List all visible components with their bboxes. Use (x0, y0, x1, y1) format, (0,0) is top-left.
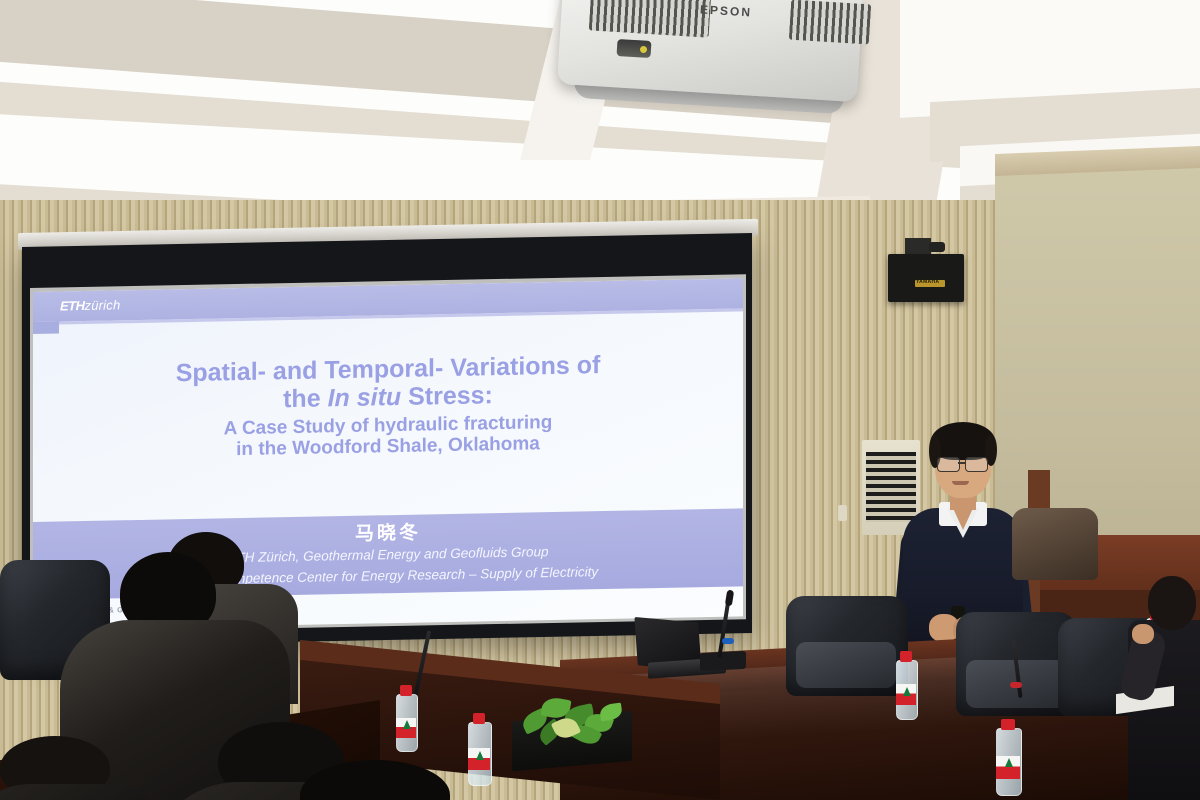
office-chair[interactable] (786, 596, 908, 726)
eth-logo-bold: ETH (60, 298, 85, 313)
eth-logo-light: zürich (85, 297, 121, 313)
wall-switch[interactable] (838, 505, 847, 521)
speaker-cabinet (888, 254, 964, 302)
eyeglasses-bridge (958, 462, 965, 464)
eyeglasses-icon-right (965, 457, 988, 472)
slide-header-notch (33, 322, 59, 334)
speaker-brand-label: YAMAHA (916, 279, 939, 285)
slide-title-line2-post: Stress: (401, 381, 493, 411)
slide-title-block: Spatial- and Temporal- Variations of the… (63, 349, 713, 464)
presenter-mouth (952, 481, 969, 485)
attendee-head (1148, 576, 1196, 630)
water-bottle[interactable] (468, 722, 490, 784)
attendee-hand (1132, 624, 1154, 644)
office-chair[interactable] (1012, 508, 1098, 586)
microphone-indicator-icon[interactable] (1010, 682, 1022, 688)
projector-vent-right (789, 0, 871, 44)
conference-room-photo: EPSON YAMAHA ETHzürich Spatial- and Temp… (0, 0, 1200, 800)
slide-title-line2-pre: the (283, 384, 327, 413)
eth-zurich-logo: ETHzürich (60, 297, 120, 313)
speaker-arm (929, 242, 945, 252)
water-bottle[interactable] (396, 694, 416, 750)
water-bottle[interactable] (996, 728, 1020, 794)
slide-subtitle-block: A Case Study of hydraulic fracturing in … (63, 409, 713, 464)
slide-title-line2-italic: In situ (328, 383, 402, 412)
microphone-indicator-icon[interactable] (722, 638, 734, 644)
eyeglasses-icon-left (937, 457, 960, 472)
water-bottle[interactable] (896, 660, 916, 718)
microphone-base (700, 651, 746, 671)
